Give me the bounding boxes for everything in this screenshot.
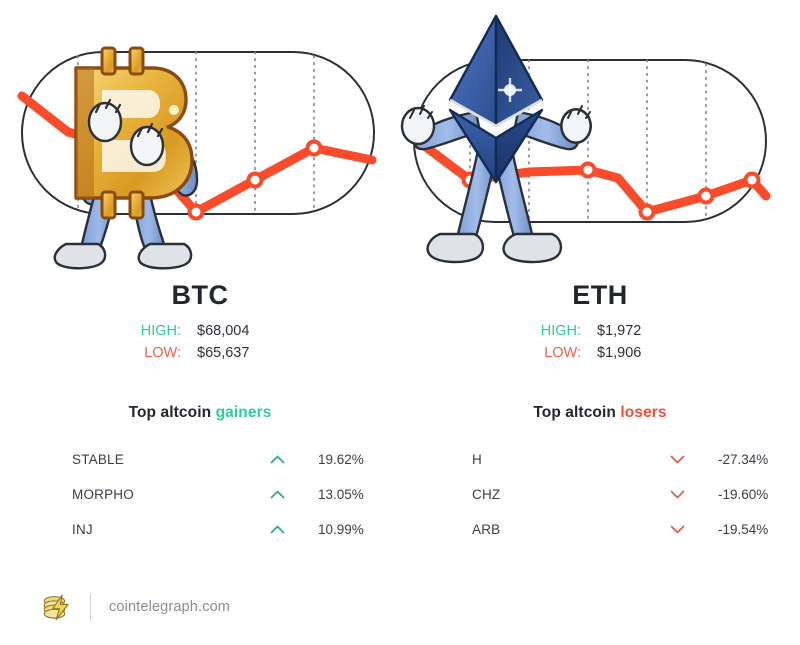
cointelegraph-coin-bolt-icon: [40, 590, 74, 624]
price-block-btc: BTC HIGH: $68,004 LOW: $65,637: [0, 280, 400, 375]
coin-card-eth: [400, 0, 800, 280]
btc-low-value: $65,637: [197, 342, 283, 364]
eth-high-value: $1,972: [597, 320, 683, 342]
btc-high-row: HIGH: $68,004: [0, 320, 400, 342]
loser-name: H: [414, 452, 654, 467]
losers-title: Top altcoin losers: [400, 404, 800, 422]
coin-symbol-eth: ETH: [400, 280, 800, 311]
bitcoin-mascot-character: [0, 0, 400, 280]
btc-high-label: HIGH:: [117, 320, 197, 342]
losers-title-prefix: Top altcoin: [533, 404, 620, 421]
chevron-up-icon: [254, 490, 300, 499]
loser-name: ARB: [414, 522, 654, 537]
altcoin-losers-column: Top altcoin losers H -27.34% CHZ: [400, 404, 800, 554]
table-row[interactable]: STABLE 19.62%: [14, 442, 386, 477]
ethereum-mascot-character: [400, 0, 800, 280]
altcoin-tables: Top altcoin gainers STABLE 19.62% MORPHO: [0, 404, 800, 554]
eth-chart-stage: [400, 0, 800, 280]
chevron-up-icon: [254, 455, 300, 464]
table-row[interactable]: H -27.34%: [414, 442, 786, 477]
altcoin-gainers-column: Top altcoin gainers STABLE 19.62% MORPHO: [0, 404, 400, 554]
loser-change: -19.54%: [700, 522, 786, 537]
btc-high-value: $68,004: [197, 320, 283, 342]
gainers-title: Top altcoin gainers: [0, 404, 400, 422]
chevron-down-icon: [654, 455, 700, 464]
btc-low-label: LOW:: [117, 342, 197, 364]
gainer-name: MORPHO: [14, 487, 254, 502]
footer-divider: [90, 594, 91, 620]
coin-charts-row: [0, 0, 800, 280]
chevron-up-icon: [254, 525, 300, 534]
loser-change: -27.34%: [700, 452, 786, 467]
btc-low-row: LOW: $65,637: [0, 342, 400, 364]
gainer-name: INJ: [14, 522, 254, 537]
chevron-down-icon: [654, 490, 700, 499]
footer: cointelegraph.com: [0, 569, 800, 645]
eth-high-label: HIGH:: [517, 320, 597, 342]
coin-symbol-btc: BTC: [0, 280, 400, 311]
gainers-title-prefix: Top altcoin: [129, 404, 216, 421]
gainer-change: 13.05%: [300, 487, 386, 502]
table-row[interactable]: INJ 10.99%: [14, 512, 386, 547]
gainer-change: 19.62%: [300, 452, 386, 467]
eth-low-label: LOW:: [517, 342, 597, 364]
footer-site-url: cointelegraph.com: [109, 599, 230, 615]
chevron-down-icon: [654, 525, 700, 534]
losers-title-accent: losers: [620, 404, 666, 421]
btc-chart-stage: [0, 0, 400, 280]
coin-card-btc: [0, 0, 400, 280]
table-row[interactable]: MORPHO 13.05%: [14, 477, 386, 512]
eth-low-value: $1,906: [597, 342, 683, 364]
table-row[interactable]: ARB -19.54%: [414, 512, 786, 547]
gainer-change: 10.99%: [300, 522, 386, 537]
coin-price-labels: BTC HIGH: $68,004 LOW: $65,637 ETH HIGH:…: [0, 280, 800, 375]
table-row[interactable]: CHZ -19.60%: [414, 477, 786, 512]
eth-high-row: HIGH: $1,972: [400, 320, 800, 342]
eth-low-row: LOW: $1,906: [400, 342, 800, 364]
loser-name: CHZ: [414, 487, 654, 502]
market-update-card: BTC HIGH: $68,004 LOW: $65,637 ETH HIGH:…: [0, 0, 800, 645]
loser-change: -19.60%: [700, 487, 786, 502]
price-block-eth: ETH HIGH: $1,972 LOW: $1,906: [400, 280, 800, 375]
gainer-name: STABLE: [14, 452, 254, 467]
gainers-title-accent: gainers: [216, 404, 272, 421]
losers-rows: H -27.34% CHZ -19.60%: [400, 442, 800, 547]
gainers-rows: STABLE 19.62% MORPHO 13.05: [0, 442, 400, 547]
